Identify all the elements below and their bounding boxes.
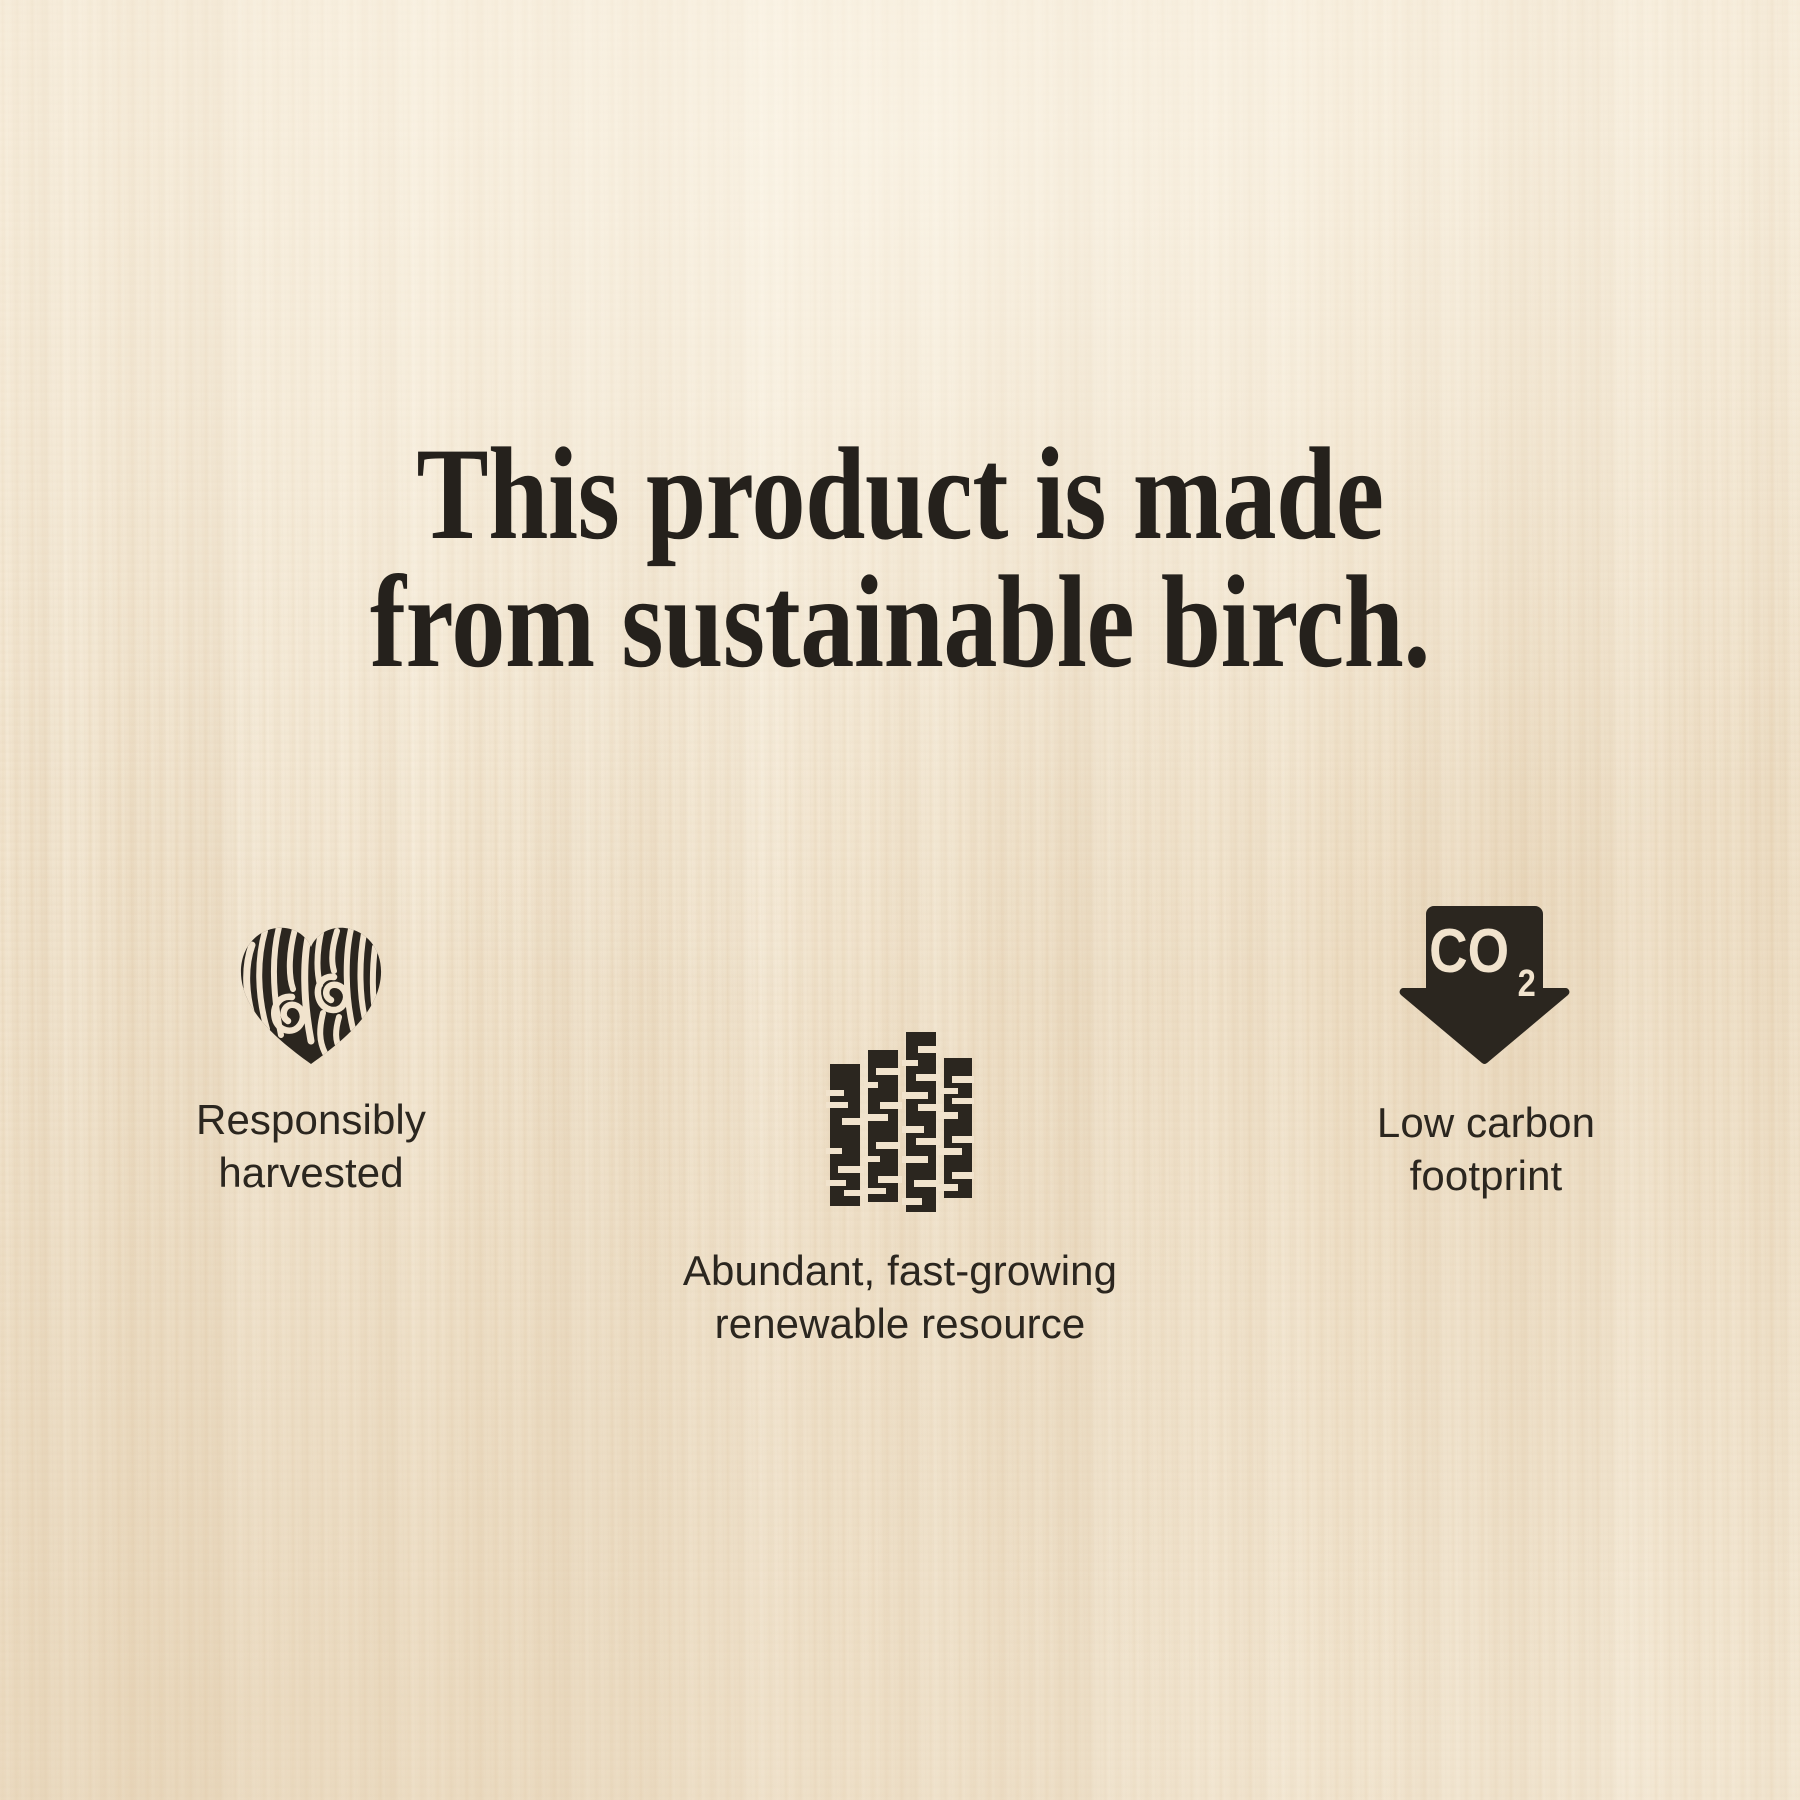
feature-low-carbon-footprint: CO 2 Low carbon footprint xyxy=(1300,900,1672,1203)
icon-container xyxy=(620,1030,1180,1212)
birch-trunks-icon xyxy=(824,1030,976,1212)
co2-down-arrow-icon: CO 2 xyxy=(1399,900,1573,1066)
wood-grain-heart-icon xyxy=(239,925,383,1065)
headline-line-1: This product is made xyxy=(162,430,1638,558)
co2-subscript-text: 2 xyxy=(1518,962,1536,1005)
feature-caption: Low carbon footprint xyxy=(1300,1096,1672,1203)
page-title: This product is made from sustainable bi… xyxy=(162,430,1638,686)
icon-container xyxy=(125,915,497,1065)
feature-row: Responsibly harvested xyxy=(0,900,1800,1320)
feature-responsibly-harvested: Responsibly harvested xyxy=(125,915,497,1200)
feature-caption: Abundant, fast-growing renewable resourc… xyxy=(620,1244,1180,1351)
icon-container: CO 2 xyxy=(1300,900,1672,1066)
co2-main-text: CO xyxy=(1429,917,1509,986)
feature-renewable-resource: Abundant, fast-growing renewable resourc… xyxy=(620,1030,1180,1351)
headline-line-2: from sustainable birch. xyxy=(162,558,1638,686)
birch-panel-background: This product is made from sustainable bi… xyxy=(0,0,1800,1800)
feature-caption: Responsibly harvested xyxy=(125,1093,497,1200)
